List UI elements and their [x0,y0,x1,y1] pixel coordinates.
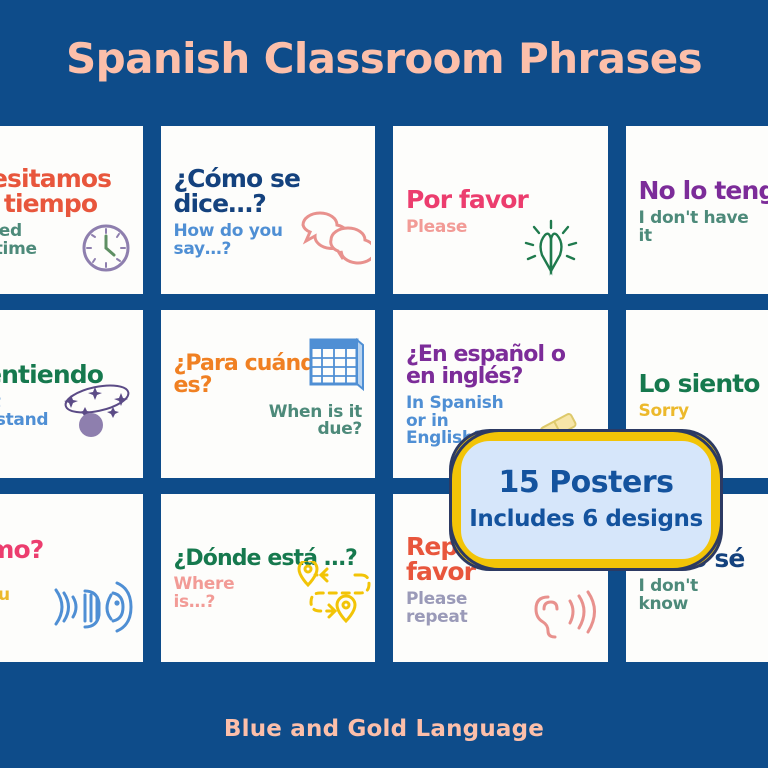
map-pins-icon [283,561,371,636]
phrase-card[interactable]: No lo tengo I don't have it [626,126,768,294]
phrase-card-grid: Necesitamos más tiempo We need more time [0,126,768,662]
phrase-spanish: Necesitamos más tiempo [0,166,130,217]
phrase-spanish: Lo siento [639,371,768,397]
phrase-english: What did you say? [0,569,24,623]
ear-sound-icon [524,583,598,646]
phrase-card[interactable]: ¿Cómo? What did you say? [0,494,143,662]
phrase-card[interactable]: Por favor Please [393,126,608,294]
phrase-spanish: ¿Cómo? [0,537,130,563]
phrase-english: Where is…? [174,576,272,612]
phrase-english: I don't know [639,578,745,614]
status-badge: 15 Posters Includes 6 designs [452,432,720,568]
phrase-spanish: No lo tengo [639,178,768,204]
phrase-english: How do you say…? [174,223,291,259]
phrase-english: Sorry [639,403,756,421]
praying-hands-icon [520,215,582,282]
clock-icon [79,221,133,280]
phrase-spanish: ¿En español o en inglés? [406,344,595,389]
phrase-spanish: ¿Dónde está …? [174,548,363,570]
brand-name: Blue and Gold Language [224,716,544,742]
footer: Blue and Gold Language [0,690,768,768]
badge-subtitle: Includes 6 designs [469,507,703,532]
page-title: Spanish Classroom Phrases [66,38,702,80]
phrase-card[interactable]: Necesitamos más tiempo We need more time [0,126,143,294]
phrase-english: We need more time [0,223,58,259]
phrase-english: I don't have it [639,210,756,246]
phrase-card[interactable]: ¿Dónde está …? Where is…? [161,494,376,662]
phrase-card[interactable]: No entiendo I don't understand [0,310,143,478]
phrase-english: Please repeat [406,591,500,627]
phrase-card[interactable]: ¿Cómo se dice…? How do you say…? [161,126,376,294]
badge-title: 15 Posters [499,468,674,498]
phrase-spanish: No entiendo [0,362,130,388]
phrase-spanish: Por favor [406,187,595,213]
phrase-card[interactable]: ¿Para cuándo es? When is it due? [161,310,376,478]
phrase-english: I don't understand [0,394,58,430]
phrase-english: Please [406,219,523,237]
phrase-spanish: ¿Cómo se dice…? [174,166,363,217]
poster-canvas: Spanish Classroom Phrases Necesitamos má… [0,0,768,768]
listening-ear-icon [51,575,137,644]
phrase-english: When is it due? [253,404,362,440]
phrase-spanish: ¿Para cuándo es? [174,353,363,398]
header: Spanish Classroom Phrases [0,0,768,118]
